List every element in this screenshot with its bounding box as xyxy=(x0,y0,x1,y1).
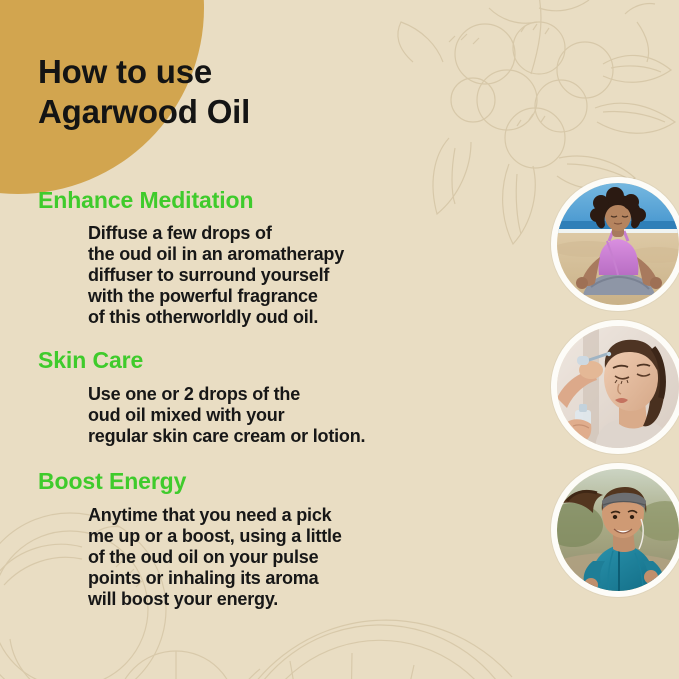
photo-energy xyxy=(551,463,679,597)
photo-meditation xyxy=(551,177,679,311)
photo-meditation-image xyxy=(557,183,679,305)
sections-list: Enhance Meditation Diffuse a few drops o… xyxy=(0,186,540,621)
section-body-enhance-meditation: Diffuse a few drops of the oud oil in an… xyxy=(88,223,540,328)
photo-energy-image xyxy=(557,469,679,591)
section-enhance-meditation: Enhance Meditation Diffuse a few drops o… xyxy=(0,186,540,328)
section-heading-enhance-meditation: Enhance Meditation xyxy=(38,186,540,215)
section-boost-energy: Boost Energy Anytime that you need a pic… xyxy=(0,467,540,610)
infographic-poster: How to use Agarwood Oil Enhance Meditati… xyxy=(0,0,679,679)
photo-skincare-image xyxy=(557,326,679,448)
section-body-skin-care: Use one or 2 drops of the oud oil mixed … xyxy=(88,384,540,447)
title-line-2: Agarwood Oil xyxy=(38,92,458,132)
page-title: How to use Agarwood Oil xyxy=(38,52,458,133)
section-skin-care: Skin Care Use one or 2 drops of the oud … xyxy=(0,346,540,447)
title-line-1: How to use xyxy=(38,52,458,92)
section-heading-boost-energy: Boost Energy xyxy=(38,467,540,496)
photo-skincare xyxy=(551,320,679,454)
section-heading-skin-care: Skin Care xyxy=(38,346,540,375)
section-body-boost-energy: Anytime that you need a pick me up or a … xyxy=(88,505,540,610)
